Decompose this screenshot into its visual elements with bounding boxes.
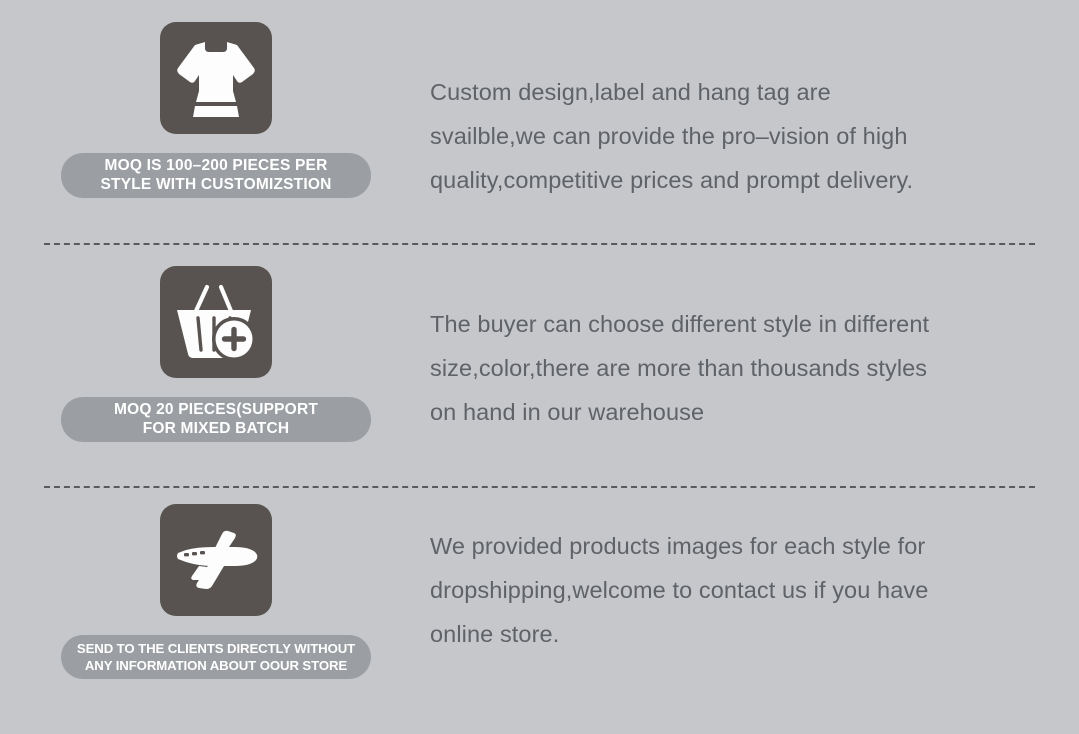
- airplane-icon-tile: [160, 504, 272, 616]
- features-page: MOQ IS 100–200 PIECES PER STYLE WITH CUS…: [0, 0, 1079, 734]
- feature-icon-column: SEND TO THE CLIENTS DIRECTLY WITHOUT ANY…: [0, 504, 430, 679]
- feature-icon-column: MOQ IS 100–200 PIECES PER STYLE WITH CUS…: [0, 22, 430, 198]
- feature-icon-column: MOQ 20 PIECES(SUPPORT FOR MIXED BATCH: [0, 266, 430, 442]
- basket-plus-icon: [174, 282, 258, 362]
- badge-line-2: ANY INFORMATION ABOUT OOUR STORE: [77, 657, 355, 674]
- badge-line-1: MOQ IS 100–200 PIECES PER: [101, 157, 332, 176]
- section-divider: [44, 243, 1035, 245]
- feature-description: Custom design,label and hang tag are sva…: [430, 22, 1079, 202]
- tshirt-icon-tile: [160, 22, 272, 134]
- tshirt-icon: [175, 39, 257, 117]
- badge-line-2: FOR MIXED BATCH: [114, 420, 318, 439]
- airplane-icon: [173, 526, 259, 594]
- feature-badge: MOQ 20 PIECES(SUPPORT FOR MIXED BATCH: [61, 397, 371, 442]
- feature-row: MOQ IS 100–200 PIECES PER STYLE WITH CUS…: [0, 22, 1079, 227]
- badge-line-1: SEND TO THE CLIENTS DIRECTLY WITHOUT: [77, 640, 355, 657]
- feature-description: The buyer can choose different style in …: [430, 266, 1079, 434]
- badge-line-2: STYLE WITH CUSTOMIZSTION: [101, 176, 332, 195]
- basket-plus-icon-tile: [160, 266, 272, 378]
- feature-description: We provided products images for each sty…: [430, 504, 1079, 656]
- feature-row: SEND TO THE CLIENTS DIRECTLY WITHOUT ANY…: [0, 504, 1079, 704]
- badge-line-1: MOQ 20 PIECES(SUPPORT: [114, 401, 318, 420]
- feature-badge: MOQ IS 100–200 PIECES PER STYLE WITH CUS…: [61, 153, 371, 198]
- feature-row: MOQ 20 PIECES(SUPPORT FOR MIXED BATCH Th…: [0, 266, 1079, 474]
- feature-badge: SEND TO THE CLIENTS DIRECTLY WITHOUT ANY…: [61, 635, 371, 679]
- section-divider: [44, 486, 1035, 488]
